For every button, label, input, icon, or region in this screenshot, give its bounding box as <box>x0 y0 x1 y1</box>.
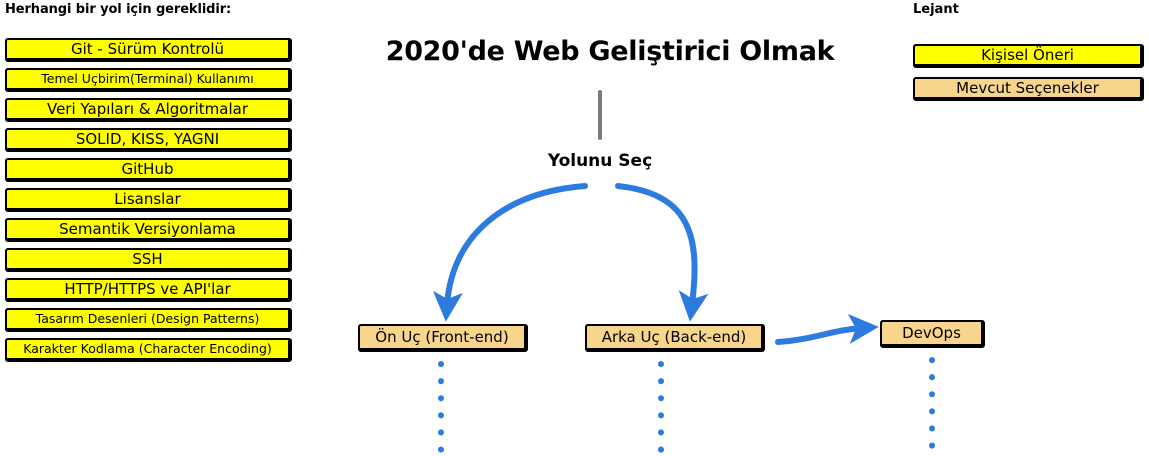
legend-heading: Lejant <box>913 2 959 17</box>
prerequisite-item[interactable]: Veri Yapıları & Algoritmalar <box>5 98 292 122</box>
prerequisite-item[interactable]: Karakter Kodlama (Character Encoding) <box>5 338 292 362</box>
prerequisite-item[interactable]: SSH <box>5 248 292 272</box>
prerequisite-item[interactable]: Tasarım Desenleri (Design Patterns) <box>5 308 292 332</box>
prerequisite-item[interactable]: Lisanslar <box>5 188 292 212</box>
legend-item[interactable]: Kişisel Öneri <box>913 44 1144 68</box>
flow-node-devops[interactable]: DevOps <box>880 320 985 348</box>
prerequisite-item-label: Tasarım Desenleri (Design Patterns) <box>36 313 260 326</box>
legend-item-label: Mevcut Seçenekler <box>956 81 1099 96</box>
prerequisite-item[interactable]: SOLID, KISS, YAGNI <box>5 128 292 152</box>
flow-node-frontend-label: Ön Uç (Front-end) <box>375 330 508 345</box>
flow-node-devops-label: DevOps <box>902 326 961 341</box>
legend-item-label: Kişisel Öneri <box>981 48 1074 63</box>
prerequisite-item-label: Karakter Kodlama (Character Encoding) <box>23 343 272 356</box>
legend-item[interactable]: Mevcut Seçenekler <box>913 77 1144 101</box>
prerequisite-item-label: Lisanslar <box>114 192 180 207</box>
flow-node-backend-label: Arka Uç (Back-end) <box>602 330 747 345</box>
flow-node-frontend[interactable]: Ön Uç (Front-end) <box>358 324 528 352</box>
arrow-to-frontend <box>447 186 585 305</box>
prerequisite-item-label: HTTP/HTTPS ve API'lar <box>64 282 230 297</box>
prerequisite-item[interactable]: Semantik Versiyonlama <box>5 218 292 242</box>
prerequisite-item-label: SSH <box>132 252 162 267</box>
prerequisite-item[interactable]: HTTP/HTTPS ve API'lar <box>5 278 292 302</box>
prerequisite-item-label: Veri Yapıları & Algoritmalar <box>47 102 248 117</box>
prerequisite-item-label: Git - Sürüm Kontrolü <box>71 42 224 57</box>
trunk-connector-line <box>598 90 602 140</box>
prerequisites-heading: Herhangi bir yol için gereklidir: <box>5 2 231 17</box>
prerequisite-item[interactable]: Git - Sürüm Kontrolü <box>5 38 292 62</box>
prerequisite-item-label: Temel Uçbirim(Terminal) Kullanımı <box>41 73 253 86</box>
choose-path-label: Yolunu Seç <box>500 151 700 171</box>
prerequisite-item[interactable]: GitHub <box>5 158 292 182</box>
flow-node-backend[interactable]: Arka Uç (Back-end) <box>585 324 765 352</box>
prerequisite-item-label: SOLID, KISS, YAGNI <box>76 132 219 147</box>
prerequisite-item-label: Semantik Versiyonlama <box>59 222 236 237</box>
prerequisite-item-label: GitHub <box>122 162 174 177</box>
prerequisite-item[interactable]: Temel Uçbirim(Terminal) Kullanımı <box>5 68 292 92</box>
arrow-to-backend <box>618 186 695 305</box>
arrow-backend-to-devops <box>778 328 862 342</box>
page-title: 2020'de Web Geliştirici Olmak <box>370 36 850 67</box>
